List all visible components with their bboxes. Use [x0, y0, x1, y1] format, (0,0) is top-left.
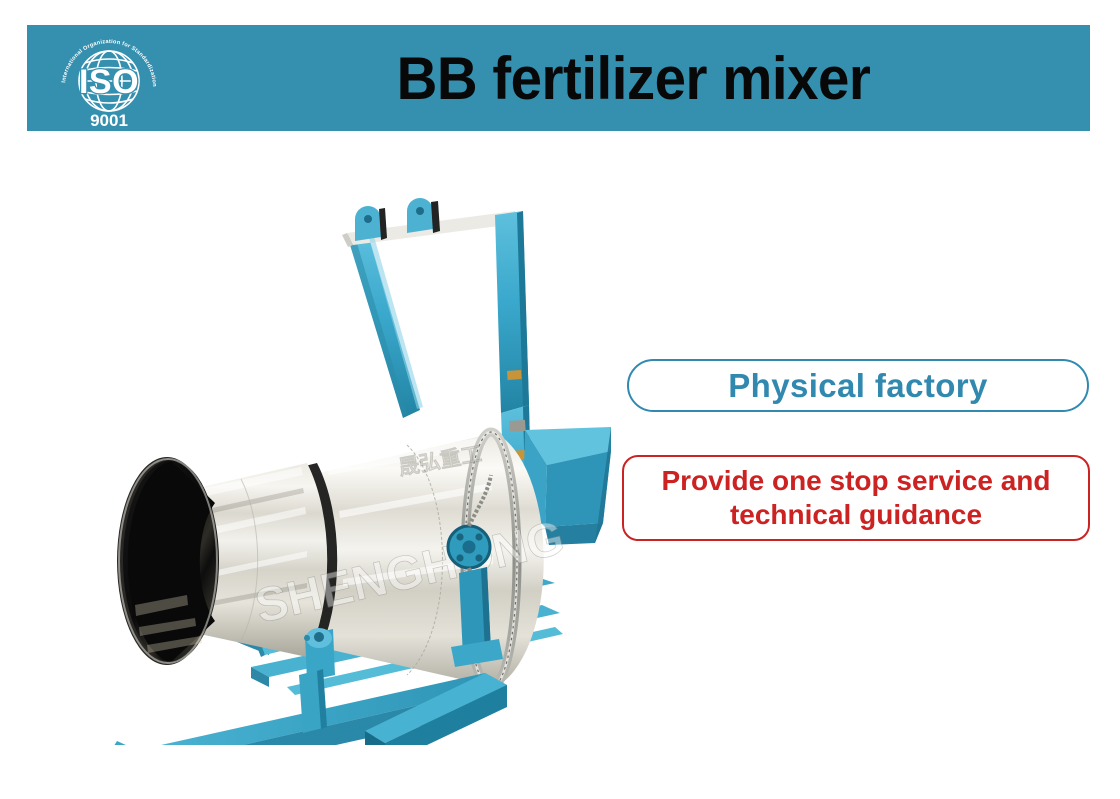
callout-service-line-2: technical guidance [730, 499, 982, 530]
header-banner: International Organization for Standardi… [27, 25, 1090, 131]
callout-one-stop-service: Provide one stop service and technical g… [622, 455, 1090, 541]
frame-risers [299, 669, 327, 733]
mixer-drum: SHENGHONG 晟弘重工 [117, 432, 569, 688]
callout-physical-factory: Physical factory [627, 359, 1089, 412]
page-title: BB fertilizer mixer [204, 25, 1062, 131]
svg-text:ISO: ISO [79, 63, 139, 101]
lifting-lug-left [355, 206, 387, 241]
product-photo: SHENGHONG 晟弘重工 [55, 175, 625, 745]
svg-text:9001: 9001 [90, 111, 128, 130]
callout-service-line-1: Provide one stop service and [661, 465, 1050, 496]
iso-9001-logo: International Organization for Standardi… [55, 31, 163, 131]
callout-one-stop-service-label: Provide one stop service and technical g… [661, 464, 1050, 532]
lifting-lug-right [407, 198, 440, 233]
callout-physical-factory-label: Physical factory [728, 367, 988, 405]
